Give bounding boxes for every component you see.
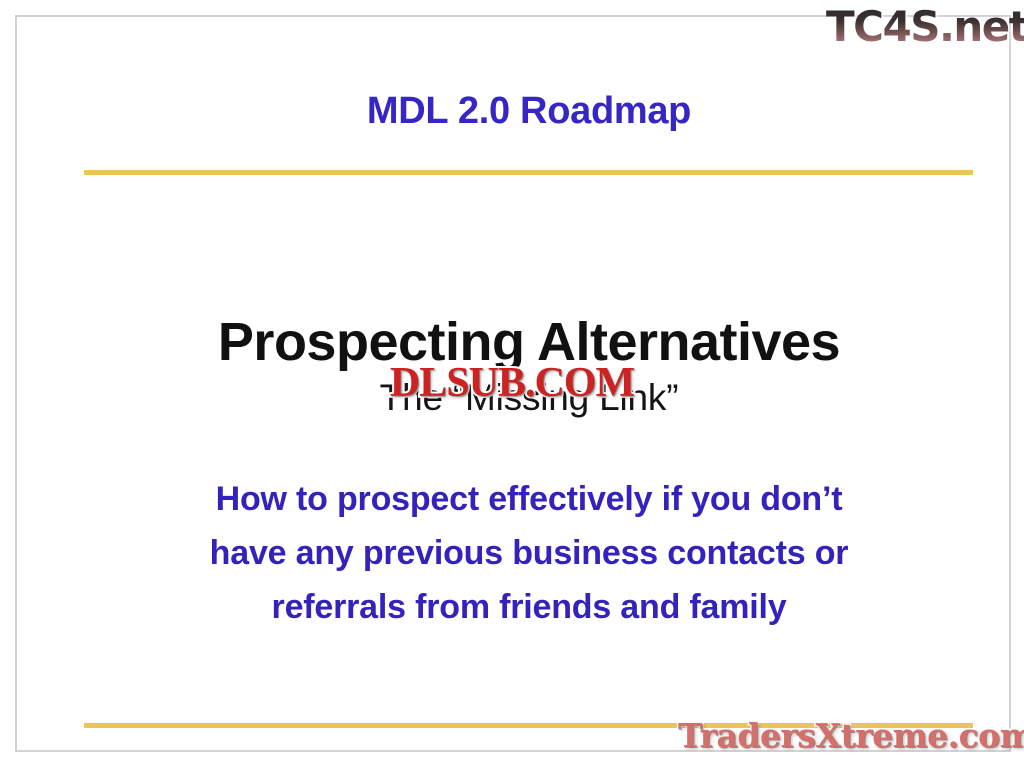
divider-top <box>84 170 973 175</box>
main-heading: Prospecting Alternatives <box>17 311 1024 373</box>
body-line-3: referrals from friends and family <box>109 580 949 634</box>
page-title: MDL 2.0 Roadmap <box>17 90 1024 133</box>
sub-heading: The “Missing Link” <box>17 377 1024 419</box>
divider-bottom <box>84 723 973 728</box>
body-text: How to prospect effectively if you don’t… <box>109 472 949 634</box>
body-line-1: How to prospect effectively if you don’t <box>109 472 949 526</box>
body-line-2: have any previous business contacts or <box>109 526 949 580</box>
slide-frame: MDL 2.0 Roadmap Prospecting Alternatives… <box>15 15 1011 752</box>
